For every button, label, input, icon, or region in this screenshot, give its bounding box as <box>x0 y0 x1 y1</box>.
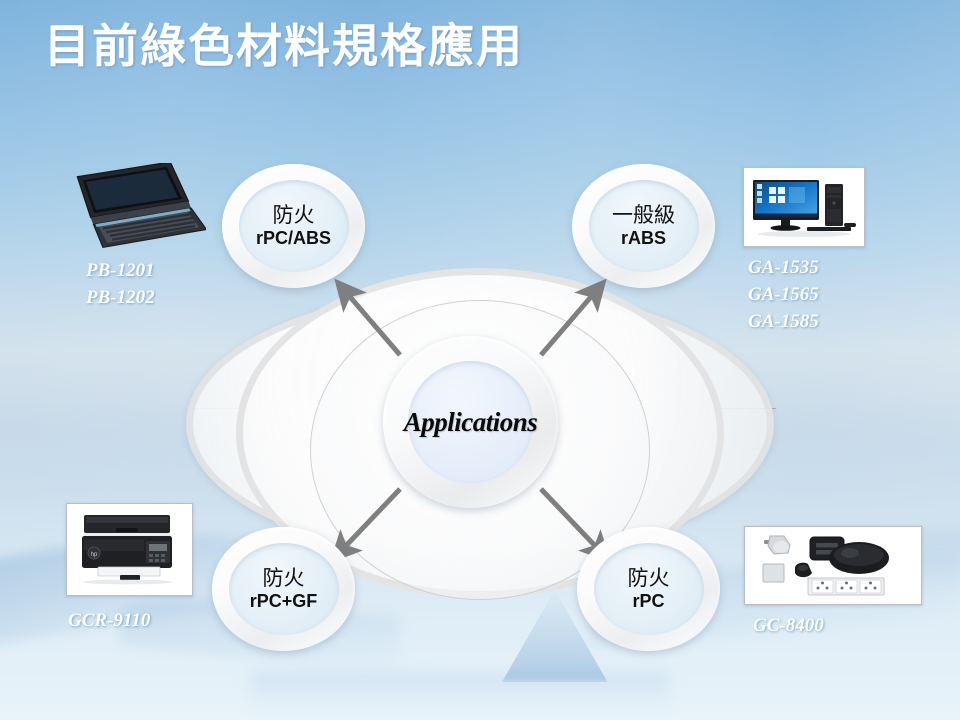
node-bottom-right-fill: 防火 rPC <box>594 543 704 635</box>
power-plug-accessories-photo <box>744 526 922 605</box>
desktop-computer-monitor-photo <box>743 167 865 247</box>
node-top-right[interactable]: 一般級 rABS <box>572 164 715 288</box>
node-bottom-left-line1: 防火 <box>263 567 305 590</box>
slide-canvas: 目前綠色材料規格應用 Applications <box>0 0 960 720</box>
caption-pc-line1: GA-1535 <box>748 255 819 282</box>
center-node-label: Applications <box>404 407 538 438</box>
node-top-right-line2: rABS <box>621 228 666 249</box>
node-top-left-line2: rPC/ABS <box>256 228 331 249</box>
node-bottom-right-line2: rPC <box>632 591 664 612</box>
caption-desktop-pc: GA-1535 GA-1565 GA-1585 <box>748 255 819 336</box>
node-bottom-left[interactable]: 防火 rPC+GF <box>212 527 355 651</box>
center-node-applications[interactable]: Applications <box>383 336 558 508</box>
caption-printer: GCR-9110 <box>68 608 150 635</box>
node-top-left[interactable]: 防火 rPC/ABS <box>222 164 365 288</box>
netbook-laptop-photo <box>63 163 206 255</box>
caption-accessories: GC-8400 <box>753 613 824 640</box>
caption-laptop: PB-1201 PB-1202 <box>86 258 155 312</box>
caption-acc-line1: GC-8400 <box>753 613 824 640</box>
multifunction-printer-photo: hp <box>66 503 193 596</box>
center-node-fill: Applications <box>408 361 533 483</box>
node-top-right-fill: 一般級 rABS <box>589 180 699 272</box>
caption-pc-line2: GA-1565 <box>748 282 819 309</box>
caption-pc-line3: GA-1585 <box>748 309 819 336</box>
caption-laptop-line1: PB-1201 <box>86 258 155 285</box>
caption-laptop-line2: PB-1202 <box>86 285 155 312</box>
node-top-left-line1: 防火 <box>273 204 315 227</box>
svg-text:hp: hp <box>91 552 98 558</box>
node-bottom-right[interactable]: 防火 rPC <box>577 527 720 651</box>
node-bottom-left-line2: rPC+GF <box>250 591 318 612</box>
node-bottom-left-fill: 防火 rPC+GF <box>229 543 339 635</box>
node-top-right-line1: 一般級 <box>612 204 675 227</box>
caption-printer-line1: GCR-9110 <box>68 608 150 635</box>
node-top-left-fill: 防火 rPC/ABS <box>239 180 349 272</box>
node-bottom-right-line1: 防火 <box>628 567 670 590</box>
